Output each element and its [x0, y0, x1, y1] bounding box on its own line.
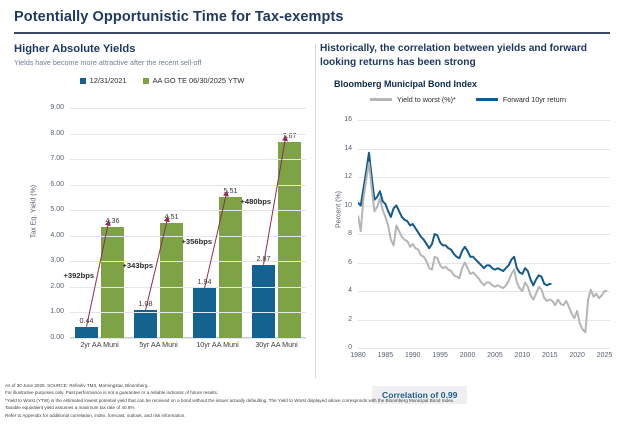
x-axis-tick: 1985: [378, 352, 394, 359]
grid-line: [70, 312, 306, 313]
right-panel-title: Historically, the correlation between yi…: [320, 42, 616, 69]
bar: 2.87: [252, 265, 275, 338]
legend-line-icon: [370, 98, 392, 101]
bar-chart-legend: 12/31/2021 AA GO TE 06/30/2025 YTW: [14, 76, 310, 85]
y-axis-tick: 0: [328, 344, 352, 351]
x-axis-tick: 2005: [487, 352, 503, 359]
legend-label: AA GO TE 06/30/2025 YTW: [153, 76, 245, 85]
y-axis-tick: 10: [328, 202, 352, 209]
legend-label: Yield to worst (%)*: [397, 95, 456, 104]
slide-root: Potentially Opportunistic Time for Tax-e…: [0, 0, 624, 426]
footnote-line: *Yield to Worst (YTW) is the estimated l…: [5, 397, 621, 404]
bar-chart-plot-area: 0.444.361.084.511.945.512.877.67 0.001.0…: [70, 108, 306, 338]
x-axis-tick: 5yr AA Muni: [129, 340, 188, 349]
legend-line-icon: [476, 98, 498, 101]
legend-swatch-icon: [80, 78, 86, 84]
footnotes: As of 30 June 2025. SOURCE: Refinitiv TM…: [5, 382, 621, 419]
line-chart-name: Bloomberg Municipal Bond Index: [334, 79, 616, 89]
bar: 7.67: [278, 142, 301, 338]
legend-item-0: 12/31/2021: [80, 76, 127, 85]
grid-line: [70, 159, 306, 160]
bar-group: 1.945.51: [188, 108, 247, 338]
y-axis-tick: 3.00: [20, 257, 64, 264]
page-header: Potentially Opportunistic Time for Tax-e…: [14, 8, 610, 26]
footnote-line: Refer to Appendix for additional correla…: [5, 412, 621, 419]
panel-divider: [315, 44, 316, 378]
x-axis-tick: 2025: [597, 352, 613, 359]
bar-value-label: 5.51: [224, 186, 238, 195]
y-axis-tick: 0.00: [20, 334, 64, 341]
grid-line: [70, 261, 306, 262]
grid-line: [70, 287, 306, 288]
bar-value-label: 4.36: [106, 216, 120, 225]
y-axis-tick: 8: [328, 230, 352, 237]
y-axis-tick: 2.00: [20, 283, 64, 290]
bar-chart-x-labels: 2yr AA Muni5yr AA Muni10yr AA Muni30yr A…: [70, 340, 306, 349]
x-axis-tick: 30yr AA Muni: [247, 340, 306, 349]
y-axis-tick: 16: [328, 116, 352, 123]
y-axis-tick: 4.00: [20, 232, 64, 239]
bar-value-label: 7.67: [283, 131, 297, 140]
y-axis-tick: 6.00: [20, 181, 64, 188]
left-panel-subtitle: Yields have become more attractive after…: [14, 58, 310, 68]
left-panel: Higher Absolute Yields Yields have becom…: [14, 42, 310, 380]
footnote-line: For illustrative purposes only. Past per…: [5, 389, 621, 396]
bar-value-label: 4.51: [165, 212, 179, 221]
x-axis-tick: 2015: [542, 352, 558, 359]
bar: 0.44: [75, 327, 98, 338]
y-axis-tick: 1.00: [20, 308, 64, 315]
y-axis-tick: 9.00: [20, 104, 64, 111]
bar-value-label: 1.08: [139, 299, 153, 308]
bar-value-label: 0.44: [80, 316, 94, 325]
bar: 4.51: [160, 223, 183, 338]
x-axis-tick: 2000: [460, 352, 476, 359]
legend-item-1: AA GO TE 06/30/2025 YTW: [143, 76, 245, 85]
header-divider: [14, 32, 610, 34]
y-axis-tick: 2: [328, 316, 352, 323]
grid-line: [70, 134, 306, 135]
grid-line: [70, 236, 306, 237]
bar-value-label: 1.94: [198, 277, 212, 286]
x-axis-tick: 1980: [350, 352, 366, 359]
y-axis-tick: 8.00: [20, 130, 64, 137]
y-axis-tick: 4: [328, 287, 352, 294]
legend-item-0: Yield to worst (%)*: [370, 95, 456, 104]
x-axis-tick: 2010: [515, 352, 531, 359]
y-axis-tick: 14: [328, 145, 352, 152]
bar: 5.51: [219, 197, 242, 338]
grid-line: [358, 348, 610, 349]
line-series-group: [358, 120, 610, 348]
y-axis-tick: 6: [328, 259, 352, 266]
grid-line: [70, 185, 306, 186]
y-axis-tick: 12: [328, 173, 352, 180]
grid-line: [70, 210, 306, 211]
x-axis-tick: 1990: [405, 352, 421, 359]
line-chart-legend: Yield to worst (%)* Forward 10yr return: [320, 95, 616, 104]
footnote-line: Taxable equivalent yield assumes a maxim…: [5, 404, 621, 411]
legend-label: 12/31/2021: [90, 76, 127, 85]
y-axis-tick: 7.00: [20, 155, 64, 162]
bar: 1.08: [134, 310, 157, 338]
grid-line: [70, 108, 306, 109]
bar-groups: 0.444.361.084.511.945.512.877.67: [70, 108, 306, 338]
legend-item-1: Forward 10yr return: [476, 95, 566, 104]
line-chart-plot-area: 0246810121416198019851990199520002005201…: [358, 120, 610, 348]
x-axis-tick: 1995: [432, 352, 448, 359]
bar-group: 2.877.67: [247, 108, 306, 338]
left-panel-title: Higher Absolute Yields: [14, 42, 310, 56]
line-series: [358, 163, 607, 333]
y-axis-tick: 5.00: [20, 206, 64, 213]
bar: 4.36: [101, 227, 124, 338]
bar-group: 1.084.51: [129, 108, 188, 338]
x-axis-tick: 2020: [569, 352, 585, 359]
legend-label: Forward 10yr return: [503, 95, 566, 104]
bar-chart: Tax Eq. Yield (%) 0.444.361.084.511.945.…: [14, 100, 310, 380]
grid-line: [70, 338, 306, 339]
legend-swatch-icon: [143, 78, 149, 84]
right-panel: Historically, the correlation between yi…: [320, 42, 616, 380]
x-axis-tick: 2yr AA Muni: [70, 340, 129, 349]
x-axis-tick: 10yr AA Muni: [188, 340, 247, 349]
footnote-line: As of 30 June 2025. SOURCE: Refinitiv TM…: [5, 382, 621, 389]
bar-group: 0.444.36: [70, 108, 129, 338]
page-title: Potentially Opportunistic Time for Tax-e…: [14, 8, 610, 26]
line-chart: Percent (%) 0246810121416198019851990199…: [320, 114, 616, 380]
